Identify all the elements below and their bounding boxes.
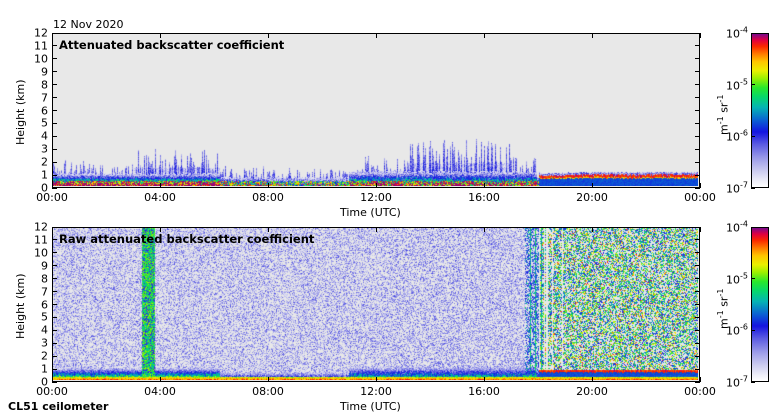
xtick-label: 04:00	[144, 191, 176, 204]
ytick-label: 2	[22, 156, 48, 169]
colorbar-tick-mark	[751, 330, 755, 331]
ytick-label: 12	[22, 27, 48, 40]
xtick-label: 08:00	[252, 385, 284, 398]
ytick-label: 12	[22, 221, 48, 234]
xtick-mark	[268, 183, 269, 188]
xtick-label: 12:00	[360, 385, 392, 398]
ytick-mark	[52, 227, 57, 228]
ytick-mark	[695, 278, 700, 279]
figure-canvas: 12 Nov 2020 Attenuated backscatter coeff…	[0, 0, 780, 420]
xtick-label: 16:00	[468, 385, 500, 398]
ytick-mark	[695, 71, 700, 72]
colorbar-tick-mark	[751, 382, 755, 383]
ytick-mark	[52, 291, 57, 292]
colorbar-tick-label: 10-6	[717, 323, 748, 338]
colorbar-tick-label: 10-7	[717, 181, 748, 196]
xtick-label: 20:00	[576, 191, 608, 204]
colorbar-tick-mark	[751, 84, 755, 85]
colorbar-tick-label: 10-7	[717, 375, 748, 390]
xtick-mark	[700, 33, 701, 38]
xtick-label: 00:00	[684, 385, 716, 398]
ytick-mark	[695, 149, 700, 150]
xtick-mark	[592, 377, 593, 382]
ytick-label: 8	[22, 78, 48, 91]
ytick-mark	[695, 356, 700, 357]
instrument-label: CL51 ceilometer	[8, 400, 108, 413]
colorbar-tick-mark	[751, 33, 755, 34]
ytick-label: 6	[22, 298, 48, 311]
colorbar-tick-label: 10-5	[717, 77, 748, 92]
ytick-mark	[52, 343, 57, 344]
colorbar-tick-label: 10-4	[717, 26, 748, 41]
ytick-mark	[695, 188, 700, 189]
ytick-mark	[695, 45, 700, 46]
date-label: 12 Nov 2020	[53, 18, 123, 31]
colorbar-tick-label: 10-6	[717, 129, 748, 144]
ytick-mark	[695, 317, 700, 318]
ytick-label: 3	[22, 143, 48, 156]
ytick-mark	[695, 239, 700, 240]
colorbar-bottom	[751, 227, 769, 382]
panel-title-top: Attenuated backscatter coefficient	[59, 38, 284, 52]
ytick-mark	[695, 291, 700, 292]
ytick-mark	[695, 136, 700, 137]
ytick-mark	[695, 84, 700, 85]
xtick-mark	[160, 377, 161, 382]
colorbar-tick-label: 10-4	[717, 220, 748, 235]
ytick-mark	[52, 278, 57, 279]
panel-title-bottom: Raw attenuated backscatter coefficient	[59, 232, 314, 246]
ytick-label: 0	[22, 376, 48, 389]
colorbar-tick-mark	[751, 188, 755, 189]
xtick-label: 08:00	[252, 191, 284, 204]
ytick-mark	[695, 227, 700, 228]
ytick-mark	[52, 239, 57, 240]
ytick-mark	[52, 33, 57, 34]
ytick-mark	[52, 369, 57, 370]
ytick-mark	[52, 123, 57, 124]
ytick-mark	[52, 45, 57, 46]
xtick-mark	[484, 33, 485, 38]
xtick-mark	[592, 227, 593, 232]
xtick-label: 00:00	[684, 191, 716, 204]
ytick-label: 7	[22, 285, 48, 298]
ytick-mark	[52, 356, 57, 357]
colorbar-tick-mark	[751, 278, 755, 279]
ytick-label: 11	[22, 233, 48, 246]
ytick-mark	[52, 188, 57, 189]
xtick-mark	[376, 33, 377, 38]
xtick-label: 20:00	[576, 385, 608, 398]
ytick-mark	[52, 252, 57, 253]
ytick-mark	[695, 123, 700, 124]
xtick-mark	[592, 33, 593, 38]
colorbar-tick-mark	[751, 227, 755, 228]
ytick-label: 0	[22, 182, 48, 195]
xtick-mark	[592, 183, 593, 188]
ytick-mark	[695, 175, 700, 176]
xtick-mark	[484, 183, 485, 188]
xtick-mark	[376, 377, 377, 382]
xtick-label: 16:00	[468, 191, 500, 204]
ytick-label: 3	[22, 337, 48, 350]
ytick-mark	[695, 252, 700, 253]
xtick-mark	[484, 227, 485, 232]
ytick-mark	[52, 71, 57, 72]
ytick-mark	[52, 58, 57, 59]
ytick-mark	[52, 304, 57, 305]
ytick-mark	[52, 382, 57, 383]
xtick-mark	[376, 227, 377, 232]
colorbar-tick-mark	[751, 136, 755, 137]
ytick-label: 7	[22, 91, 48, 104]
xaxis-label-bottom: Time (UTC)	[340, 400, 401, 413]
ytick-mark	[695, 58, 700, 59]
xtick-mark	[160, 183, 161, 188]
ytick-label: 8	[22, 272, 48, 285]
ytick-mark	[52, 110, 57, 111]
ytick-mark	[695, 382, 700, 383]
ytick-mark	[695, 97, 700, 98]
ytick-mark	[52, 162, 57, 163]
xtick-mark	[484, 377, 485, 382]
xtick-label: 04:00	[144, 385, 176, 398]
ytick-label: 11	[22, 39, 48, 52]
ytick-mark	[695, 369, 700, 370]
ytick-label: 6	[22, 104, 48, 117]
xtick-mark	[52, 33, 53, 38]
ytick-mark	[695, 343, 700, 344]
ytick-mark	[52, 84, 57, 85]
ytick-mark	[695, 33, 700, 34]
ytick-label: 4	[22, 324, 48, 337]
ytick-mark	[52, 317, 57, 318]
ytick-mark	[52, 149, 57, 150]
ytick-mark	[695, 162, 700, 163]
xtick-mark	[700, 227, 701, 232]
xtick-mark	[376, 183, 377, 188]
ytick-mark	[695, 330, 700, 331]
ytick-label: 9	[22, 65, 48, 78]
xtick-mark	[52, 227, 53, 232]
plot-attenuated-backscatter: Attenuated backscatter coefficient	[52, 33, 700, 188]
ytick-label: 1	[22, 169, 48, 182]
ytick-mark	[52, 175, 57, 176]
ytick-label: 5	[22, 117, 48, 130]
ytick-mark	[52, 136, 57, 137]
ytick-label: 10	[22, 246, 48, 259]
ytick-label: 4	[22, 130, 48, 143]
ytick-label: 2	[22, 350, 48, 363]
ytick-label: 1	[22, 363, 48, 376]
colorbar-top	[751, 33, 769, 188]
ytick-mark	[52, 97, 57, 98]
colorbar-tick-label: 10-5	[717, 271, 748, 286]
xaxis-label-top: Time (UTC)	[340, 206, 401, 219]
ytick-mark	[695, 304, 700, 305]
ytick-mark	[695, 265, 700, 266]
ytick-mark	[52, 265, 57, 266]
xtick-label: 12:00	[360, 191, 392, 204]
ytick-label: 5	[22, 311, 48, 324]
xtick-mark	[268, 377, 269, 382]
ytick-mark	[695, 110, 700, 111]
plot-raw-attenuated-backscatter: Raw attenuated backscatter coefficient	[52, 227, 700, 382]
ytick-mark	[52, 330, 57, 331]
ytick-label: 10	[22, 52, 48, 65]
ytick-label: 9	[22, 259, 48, 272]
